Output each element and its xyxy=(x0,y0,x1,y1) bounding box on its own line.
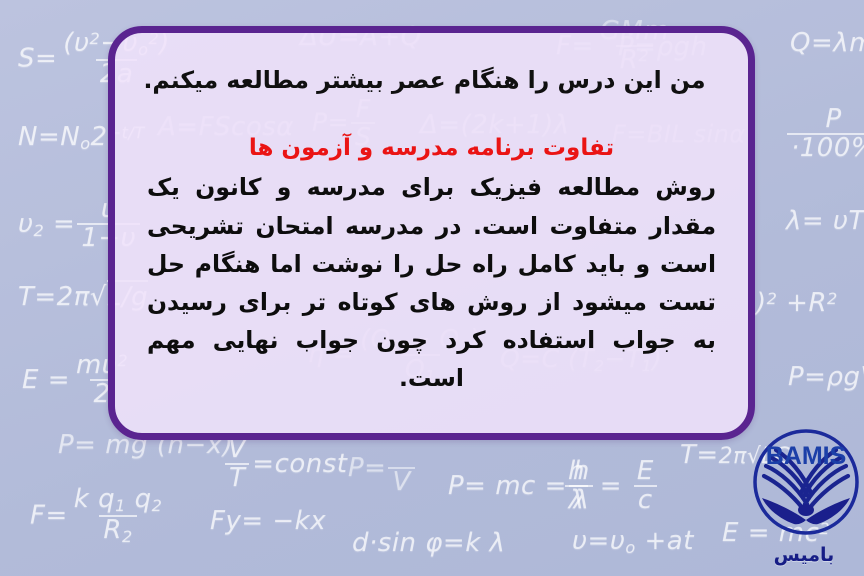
content-card: من این درس را هنگام عصر بیشتر مطالعه میک… xyxy=(108,26,755,440)
formula-diffraction: d·sin φ=k λ xyxy=(352,528,505,558)
formula-efficiency-percent: P·100% xyxy=(785,106,864,163)
formula-coulomb: F=k q1 q2R2 xyxy=(30,486,168,546)
formula-hydrostatic: P=ρgV xyxy=(788,362,864,392)
bamis-logo-text: BAMIS xyxy=(766,442,847,470)
bamis-logo: BAMIS بامیس xyxy=(752,424,864,576)
body-paragraph: روش مطالعه فیزیک برای مدرسه و کانون یک م… xyxy=(147,168,716,396)
section-heading: تفاوت برنامه مدرسه و آزمون ها xyxy=(143,132,720,164)
formula-hooke: Fy= −kx xyxy=(210,506,326,536)
content-card-inner: من این درس را هنگام عصر بیشتر مطالعه میک… xyxy=(115,33,748,433)
formula-planck-energy: hλ = Ec xyxy=(562,458,660,515)
bamis-logo-mark: BAMIS xyxy=(752,424,864,546)
formula-photon-momentum: P= mc =hλ xyxy=(448,458,596,515)
formula-resultant: )2 +R2 xyxy=(756,288,838,318)
formula-isobaric-const: VT=const xyxy=(222,436,348,493)
formula-pv: P= V xyxy=(348,440,417,497)
formula-wavelength: λ= υT xyxy=(786,206,864,236)
formula-velocity-at: υ=υo +at xyxy=(572,526,694,557)
intro-line: من این درس را هنگام عصر بیشتر مطالعه میک… xyxy=(143,63,706,98)
slide-root: S=(υ2−υo2)2a N=No2−t/T υ2 =υ1+υ T=2π√L/g… xyxy=(0,0,864,576)
formula-latent-heat: Q=λm xyxy=(790,28,864,58)
bamis-logo-persian: بامیس xyxy=(752,544,856,566)
